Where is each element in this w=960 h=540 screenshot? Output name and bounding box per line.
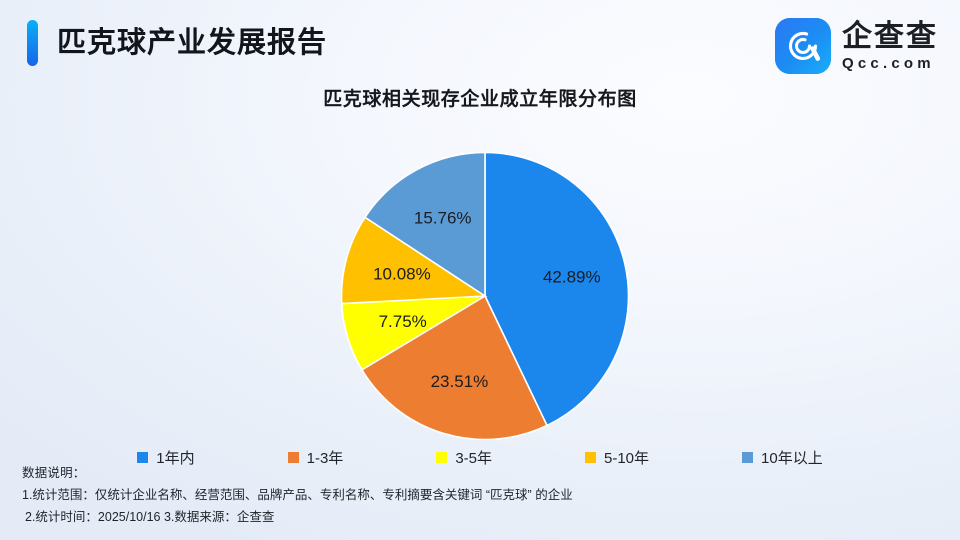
pie-chart: 42.89%23.51%7.75%10.08%15.76% [341,152,629,440]
pie-slice-label: 23.51% [431,372,489,391]
data-notes: 数据说明： 1.统计范围：仅统计企业名称、经营范围、品牌产品、专利名称、专利摘要… [22,462,852,528]
logo-chinese-name: 企查查 [842,22,938,52]
pie-chart-svg: 42.89%23.51%7.75%10.08%15.76% [341,152,629,440]
brand-logo: 企查查 Qcc.com [775,18,938,74]
notes-line-scope: 1.统计范围：仅统计企业名称、经营范围、品牌产品、专利名称、专利摘要含关键词 “… [22,484,852,506]
title-accent-bar [27,20,38,66]
pie-slice-label: 10.08% [373,265,431,284]
qcc-magnifier-logo-icon [775,18,831,74]
chart-title: 匹克球相关现存企业成立年限分布图 [0,84,960,111]
report-slide: 匹克球产业发展报告 企查查 Qcc.com [0,0,960,540]
pie-slice-label: 7.75% [379,312,427,331]
notes-line-time-source: 2.统计时间：2025/10/16 3.数据来源：企查查 [22,506,852,528]
pie-slice-label: 42.89% [543,267,601,286]
logo-domain-name: Qcc.com [842,56,938,71]
page-title: 匹克球产业发展报告 [57,21,327,65]
notes-heading: 数据说明： [22,462,852,484]
header: 匹克球产业发展报告 企查查 Qcc.com [0,0,960,88]
pie-slice-label: 15.76% [414,209,472,228]
logo-wordmark: 企查查 Qcc.com [842,22,938,71]
pie-slice-group [341,152,628,439]
